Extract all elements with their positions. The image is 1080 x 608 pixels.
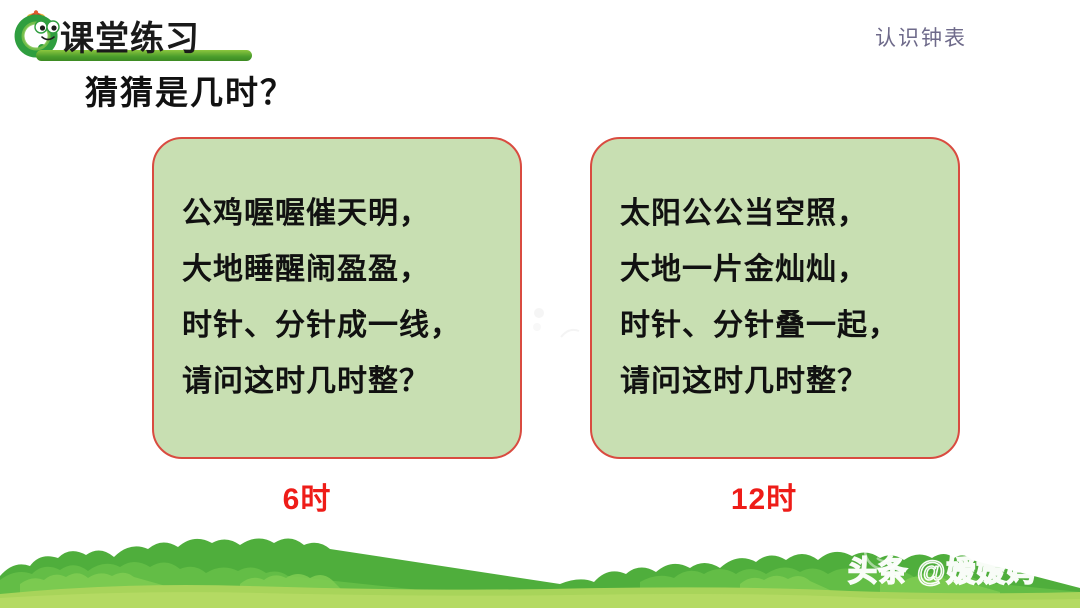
riddle-line: 时针、分针叠一起，: [592, 298, 958, 354]
riddle-line: 大地睡醒闹盈盈，: [154, 242, 520, 298]
riddle-line: 请问这时几时整？: [154, 354, 520, 410]
riddle-card-right: 太阳公公当空照， 大地一片金灿灿， 时针、分针叠一起， 请问这时几时整？: [590, 137, 960, 459]
riddle-line: 请问这时几时整？: [592, 354, 958, 410]
answer-left: 6时: [122, 474, 492, 518]
watermark-handle: 头条 @嫒嫒妈: [848, 548, 1036, 590]
slide-canvas: 课堂练习 认识钟表 猜猜是几时？ 公鸡喔喔催天明， 大地睡醒闹盈盈， 时针、分针…: [0, 0, 1080, 608]
riddle-card-left: 公鸡喔喔催天明， 大地睡醒闹盈盈， 时针、分针成一线， 请问这时几时整？: [152, 137, 522, 459]
watermark: 小学语数 头条 @嫒嫒妈: [842, 528, 1072, 588]
riddle-line: 太阳公公当空照，: [592, 186, 958, 242]
riddle-line: 公鸡喔喔催天明，: [154, 186, 520, 242]
riddle-line: 时针、分针成一线，: [154, 298, 520, 354]
question-heading: 猜猜是几时？: [85, 66, 295, 114]
lesson-topic-label: 认识钟表: [875, 22, 967, 52]
background-artifact: [527, 303, 587, 343]
page-title: 课堂练习: [60, 11, 200, 60]
answer-right: 12时: [579, 474, 949, 518]
riddle-line: 大地一片金灿灿，: [592, 242, 958, 298]
